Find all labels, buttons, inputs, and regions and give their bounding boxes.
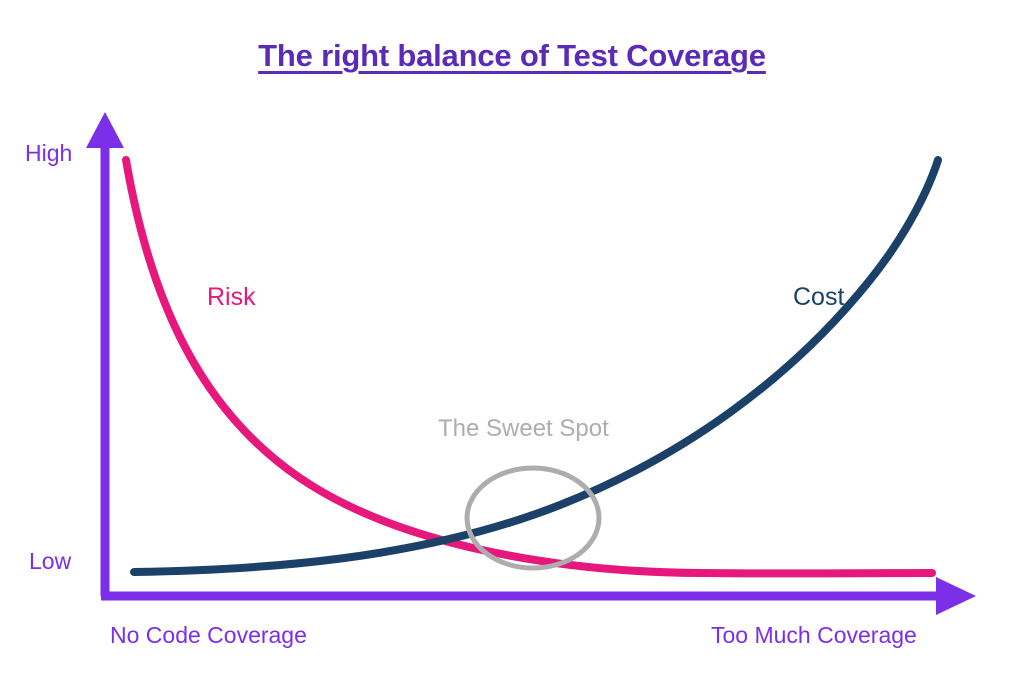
chart-plot-area bbox=[0, 0, 1024, 685]
annotation-sweet-spot: The Sweet Spot bbox=[438, 415, 609, 443]
cost-curve bbox=[134, 160, 938, 572]
x-axis bbox=[101, 577, 976, 615]
x-axis-label-right: Too Much Coverage bbox=[711, 622, 917, 649]
y-axis-arrow-icon bbox=[86, 112, 124, 148]
series-label-cost: Cost bbox=[793, 283, 844, 312]
series-label-risk: Risk bbox=[207, 283, 256, 312]
chart-canvas: The right balance of Test Coverage High … bbox=[0, 0, 1024, 685]
y-axis-label-high: High bbox=[25, 140, 72, 167]
risk-curve bbox=[126, 160, 932, 573]
y-axis-label-low: Low bbox=[29, 548, 71, 575]
y-axis bbox=[86, 112, 124, 596]
x-axis-arrow-icon bbox=[936, 577, 976, 615]
x-axis-label-left: No Code Coverage bbox=[110, 622, 307, 649]
